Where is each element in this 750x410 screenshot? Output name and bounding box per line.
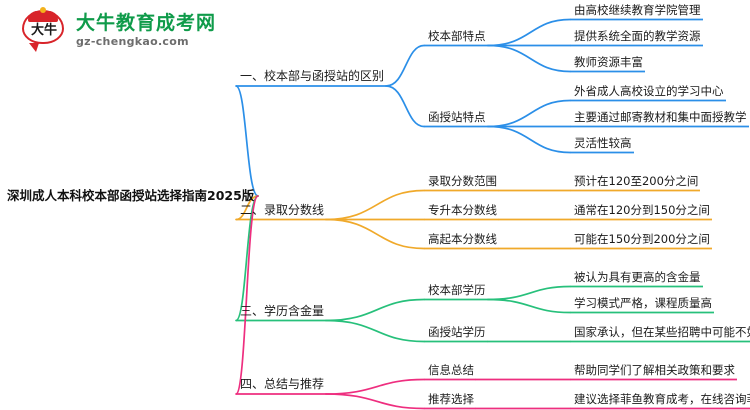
speech-bubble-logo-icon: 大牛	[22, 8, 68, 52]
subtopic-0-1[interactable]: 函授站特点	[426, 110, 488, 127]
leaf-1-1-0[interactable]: 通常在120分到150分之间	[572, 203, 712, 220]
leaf-0-0-1-label: 提供系统全面的教学资源	[572, 29, 703, 46]
leaf-1-2-0-label: 可能在150分到200分之间	[572, 232, 712, 249]
subtopic-3-0[interactable]: 信息总结	[426, 363, 476, 380]
subtopic-3-1[interactable]: 推荐选择	[426, 392, 476, 409]
leaf-1-1-0-label: 通常在120分到150分之间	[572, 203, 712, 220]
leaf-2-0-0[interactable]: 被认为具有更高的含金量	[572, 270, 703, 287]
subtopic-1-2-label: 高起本分数线	[426, 232, 499, 249]
leaf-3-1-0[interactable]: 建议选择菲鱼教育成考，在线咨询菲鱼老师	[572, 392, 750, 409]
logo-mark-text: 大牛	[25, 24, 63, 38]
branch-topic-2-label: 三、学历含金量	[238, 304, 326, 321]
subtopic-3-1-label: 推荐选择	[426, 392, 476, 409]
leaf-0-1-0[interactable]: 外省成人高校设立的学习中心	[572, 84, 726, 101]
branch-topic-3-label: 四、总结与推荐	[238, 377, 326, 394]
leaf-2-1-0[interactable]: 国家承认，但在某些招聘中可能不如校本部	[572, 325, 750, 342]
subtopic-2-1-label: 函授站学历	[426, 325, 488, 342]
subtopic-1-0-label: 录取分数范围	[426, 174, 499, 191]
subtopic-2-0-label: 校本部学历	[426, 283, 488, 300]
leaf-0-0-0[interactable]: 由高校继续教育学院管理	[572, 3, 703, 20]
subtopic-0-0-label: 校本部特点	[426, 29, 488, 46]
leaf-0-0-1[interactable]: 提供系统全面的教学资源	[572, 29, 703, 46]
leaf-0-0-2-label: 教师资源丰富	[572, 55, 645, 72]
branch-topic-2[interactable]: 三、学历含金量	[238, 304, 326, 321]
branch-topic-1[interactable]: 二、录取分数线	[238, 203, 326, 220]
root-topic-label: 深圳成人本科校本部函授站选择指南2025版	[5, 188, 256, 205]
leaf-0-1-2-label: 灵活性较高	[572, 136, 634, 153]
leaf-0-0-0-label: 由高校继续教育学院管理	[572, 3, 703, 20]
leaf-3-0-0[interactable]: 帮助同学们了解相关政策和要求	[572, 363, 737, 380]
subtopic-3-0-label: 信息总结	[426, 363, 476, 380]
subtopic-1-0[interactable]: 录取分数范围	[426, 174, 499, 191]
leaf-3-0-0-label: 帮助同学们了解相关政策和要求	[572, 363, 737, 380]
branch-topic-1-label: 二、录取分数线	[238, 203, 326, 220]
mindmap-canvas: 大牛 大牛教育成考网 gz-chengkao.com 深圳成人本科校本部函授站选…	[0, 0, 750, 410]
root-topic[interactable]: 深圳成人本科校本部函授站选择指南2025版	[5, 188, 256, 205]
branch-topic-0-label: 一、校本部与函授站的区别	[238, 69, 386, 86]
subtopic-2-0[interactable]: 校本部学历	[426, 283, 488, 300]
logo-title: 大牛教育成考网	[76, 13, 216, 34]
leaf-1-0-0[interactable]: 预计在120至200分之间	[572, 174, 700, 191]
leaf-0-0-2[interactable]: 教师资源丰富	[572, 55, 645, 72]
leaf-1-2-0[interactable]: 可能在150分到200分之间	[572, 232, 712, 249]
subtopic-1-1-label: 专升本分数线	[426, 203, 499, 220]
leaf-2-0-1[interactable]: 学习模式严格，课程质量高	[572, 296, 714, 313]
subtopic-2-1[interactable]: 函授站学历	[426, 325, 488, 342]
leaf-0-1-1[interactable]: 主要通过邮寄教材和集中面授教学	[572, 110, 749, 127]
site-logo: 大牛 大牛教育成考网 gz-chengkao.com	[22, 8, 216, 52]
leaf-2-0-1-label: 学习模式严格，课程质量高	[572, 296, 714, 313]
subtopic-1-1[interactable]: 专升本分数线	[426, 203, 499, 220]
subtopic-0-0[interactable]: 校本部特点	[426, 29, 488, 46]
leaf-0-1-1-label: 主要通过邮寄教材和集中面授教学	[572, 110, 749, 127]
logo-subtitle: gz-chengkao.com	[76, 35, 216, 48]
leaf-0-1-0-label: 外省成人高校设立的学习中心	[572, 84, 726, 101]
subtopic-1-2[interactable]: 高起本分数线	[426, 232, 499, 249]
leaf-3-1-0-label: 建议选择菲鱼教育成考，在线咨询菲鱼老师	[572, 392, 750, 409]
leaf-2-0-0-label: 被认为具有更高的含金量	[572, 270, 703, 287]
leaf-0-1-2[interactable]: 灵活性较高	[572, 136, 634, 153]
branch-topic-0[interactable]: 一、校本部与函授站的区别	[238, 69, 386, 86]
leaf-2-1-0-label: 国家承认，但在某些招聘中可能不如校本部	[572, 325, 750, 342]
leaf-1-0-0-label: 预计在120至200分之间	[572, 174, 700, 191]
subtopic-0-1-label: 函授站特点	[426, 110, 488, 127]
branch-topic-3[interactable]: 四、总结与推荐	[238, 377, 326, 394]
